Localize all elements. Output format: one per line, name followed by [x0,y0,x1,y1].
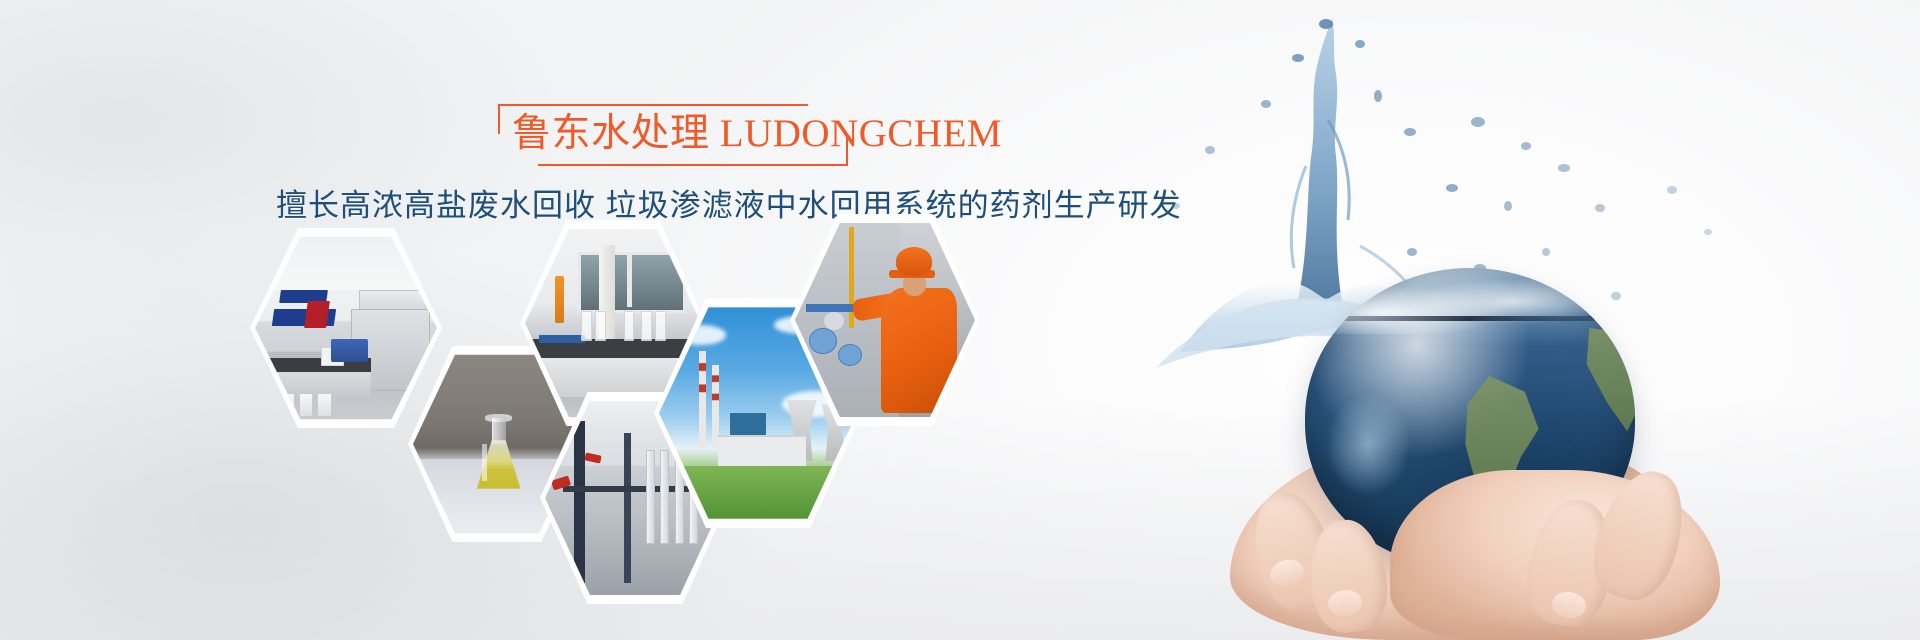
hex-tile-lab-room[interactable] [250,228,442,428]
hex-image-lab-room [255,233,437,423]
continent-africa [1582,328,1635,448]
globe-waterline [1305,316,1635,321]
blue-valve [809,328,836,354]
brand-title-block: 鲁东水处理 LUDONGCHEM [498,104,848,166]
splash-tendril [1291,166,1306,268]
window-mullion [627,252,632,307]
chimney-stack [699,351,706,448]
page-title: 鲁东水处理 LUDONGCHEM [512,110,1002,158]
reagent-jug [280,393,295,418]
water-globe-artwork [1060,0,1920,640]
orange-hard-hat [896,247,932,275]
lab-bench-front [259,372,372,399]
bench-blue-frame [539,335,585,343]
globe-water-foam [1305,280,1635,334]
membrane-vessel [660,450,669,545]
glassware-item [581,311,592,340]
title-frame-top-bar [498,104,808,106]
glassware-item [641,311,652,340]
skid-frame-right [624,433,631,582]
skid-rail [563,486,707,492]
glassware-item [624,311,635,340]
hex-image-worker [795,219,975,421]
plant-building [718,435,805,468]
globe-gloss-highlight [1325,394,1411,496]
banner-subtitle: 擅长高浓高盐废水回收 垃圾渗滤液中水回用系统的药剂生产研发 [276,185,1182,227]
splash-jet [1298,18,1342,302]
plant-worker-photo [795,219,975,421]
glassware-item [595,311,606,340]
flask-highlight [482,444,487,481]
plant-building-blue [730,413,766,435]
membrane-vessel [646,450,655,545]
splash-droplets [1172,19,1712,300]
banner-root: 鲁东水处理 LUDONGCHEM 擅长高浓高盐废水回收 垃圾渗滤液中水回用系统的… [0,0,1920,640]
orange-apparatus [555,276,564,323]
title-frame-bottom-bar [538,164,848,166]
hex-photo-gallery [250,228,970,628]
title-frame-left-bar [498,104,500,134]
reagent-jug [299,393,314,418]
glassware-item [655,311,666,340]
wall-slogan-number [304,301,330,328]
reagent-jug [317,393,332,418]
worker-body-orange-suit [881,288,957,413]
skid-frame-left [574,421,585,583]
lab-ceiling [255,233,437,290]
gauge [824,312,844,330]
lab-instrument-blue [331,339,367,362]
flask-neck [492,418,506,444]
laboratory-room-photo [255,233,437,423]
